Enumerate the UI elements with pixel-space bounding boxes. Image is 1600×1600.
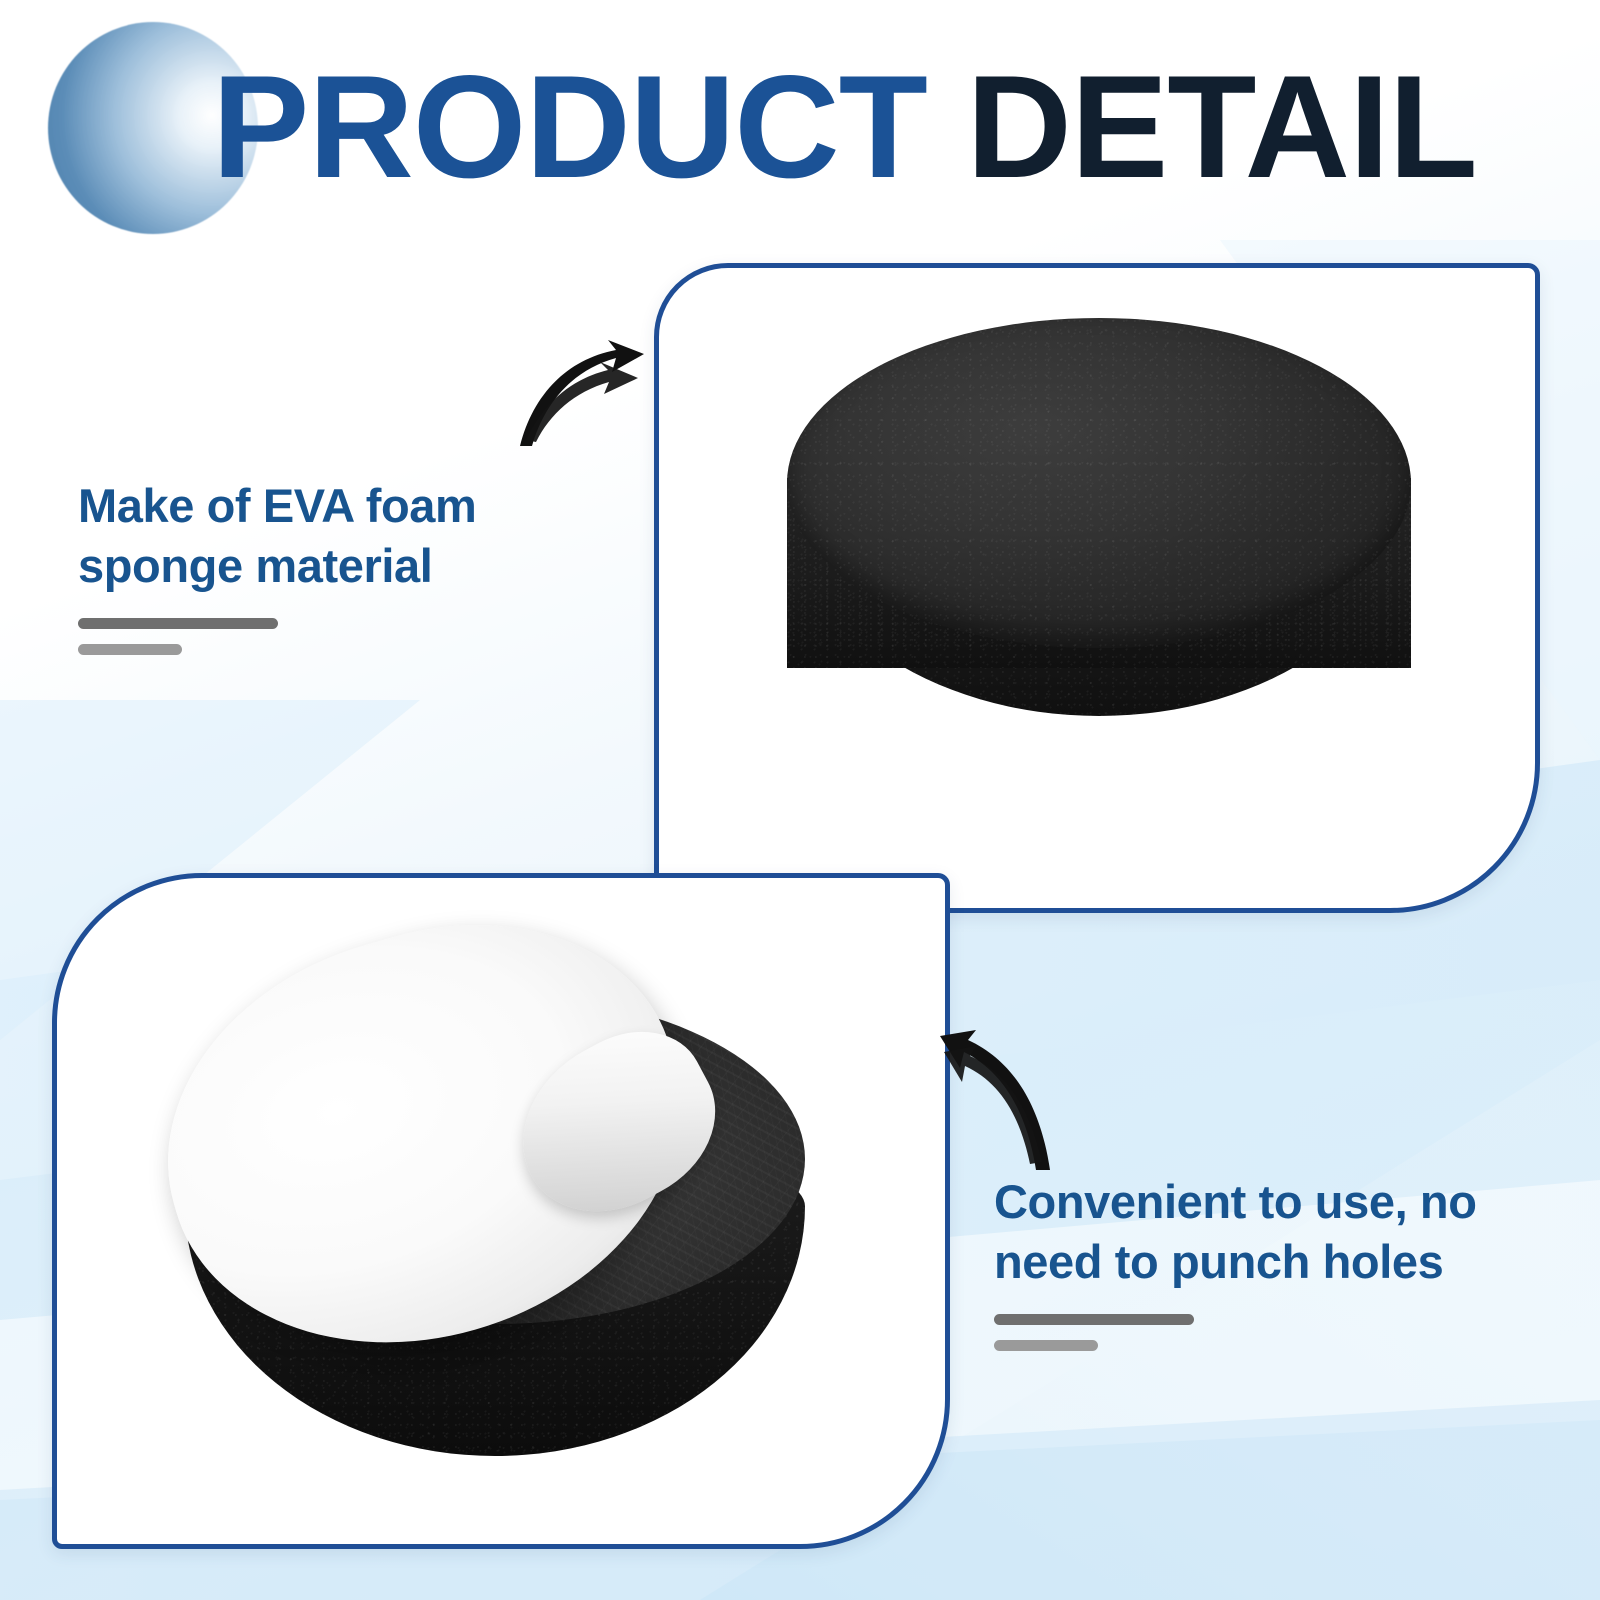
feature-text: Make of EVA foam sponge material xyxy=(78,476,598,596)
product-detail-infographic: PRODUCT DETAIL xyxy=(0,0,1600,1600)
feature-block-no-punch-holes: Convenient to use, no need to punch hole… xyxy=(994,1172,1554,1351)
feature-underline-group xyxy=(78,618,598,655)
feature-underline-long xyxy=(994,1314,1194,1325)
curved-double-arrow-up-right-icon xyxy=(512,336,652,448)
page-title-word-detail: DETAIL xyxy=(966,45,1476,208)
foam-puck-photo xyxy=(779,308,1419,818)
product-photo-panel-bottom xyxy=(52,873,950,1549)
product-photo-panel-top xyxy=(654,263,1540,913)
foam-texture-overlay xyxy=(787,318,1411,648)
feature-underline-group xyxy=(994,1314,1554,1351)
feature-text-line2: need to punch holes xyxy=(994,1232,1554,1292)
feature-underline-short xyxy=(994,1340,1098,1351)
page-title-word-product: PRODUCT xyxy=(212,45,927,208)
feature-block-eva-foam-material: Make of EVA foam sponge material xyxy=(78,476,598,655)
page-title: PRODUCT DETAIL xyxy=(212,52,1592,202)
adhesive-foam-disc-photo xyxy=(165,936,825,1506)
feature-text-line1: Convenient to use, no xyxy=(994,1172,1554,1232)
feature-text: Convenient to use, no need to punch hole… xyxy=(994,1172,1554,1292)
feature-underline-short xyxy=(78,644,182,655)
feature-underline-long xyxy=(78,618,278,629)
foam-puck-top-face xyxy=(787,318,1411,648)
feature-text-line2: sponge material xyxy=(78,536,598,596)
feature-text-line1: Make of EVA foam xyxy=(78,476,598,536)
curved-double-arrow-up-left-icon xyxy=(938,1012,1058,1172)
